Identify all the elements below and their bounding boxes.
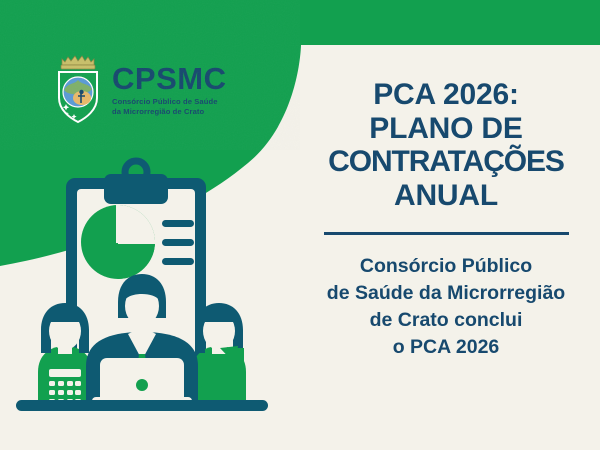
brand-logo: CPSMC Consórcio Público de Saúde da Micr… (52, 52, 226, 126)
brand-acronym: CPSMC (112, 63, 226, 94)
subtitle-line-4: o PCA 2026 (306, 334, 586, 361)
brand-subtitle-line-1: Consórcio Público de Saúde (112, 97, 226, 107)
subtitle-line-1: Consórcio Público (306, 253, 586, 280)
headline-block: PCA 2026: PLANO DE CONTRATAÇÕES ANUAL Co… (306, 78, 586, 361)
title-line-1: PCA 2026: (306, 78, 586, 112)
subtitle-line-3: de Crato conclui (306, 307, 586, 334)
brand-subtitle: Consórcio Público de Saúde da Microrregi… (112, 97, 226, 117)
subtitle-line-2: de Saúde da Microrregião (306, 280, 586, 307)
desk-bar-icon (16, 400, 268, 411)
brand-subtitle-line-2: da Microrregião de Crato (112, 107, 226, 117)
poster-canvas: CPSMC Consórcio Público de Saúde da Micr… (0, 0, 600, 450)
page-title: PCA 2026: PLANO DE CONTRATAÇÕES ANUAL (306, 78, 586, 212)
page-subtitle: Consórcio Público de Saúde da Microrregi… (306, 253, 586, 361)
title-divider (324, 232, 569, 235)
title-line-2: PLANO DE (306, 112, 586, 146)
brand-logo-text: CPSMC Consórcio Público de Saúde da Micr… (112, 61, 226, 117)
text-lines-icon (162, 220, 194, 265)
ceara-coat-of-arms-icon (52, 52, 104, 126)
laptop-icon (92, 358, 192, 405)
title-line-4: ANUAL (306, 179, 586, 213)
title-line-3: CONTRATAÇÕES (306, 145, 586, 179)
team-planning-illustration (8, 150, 276, 412)
